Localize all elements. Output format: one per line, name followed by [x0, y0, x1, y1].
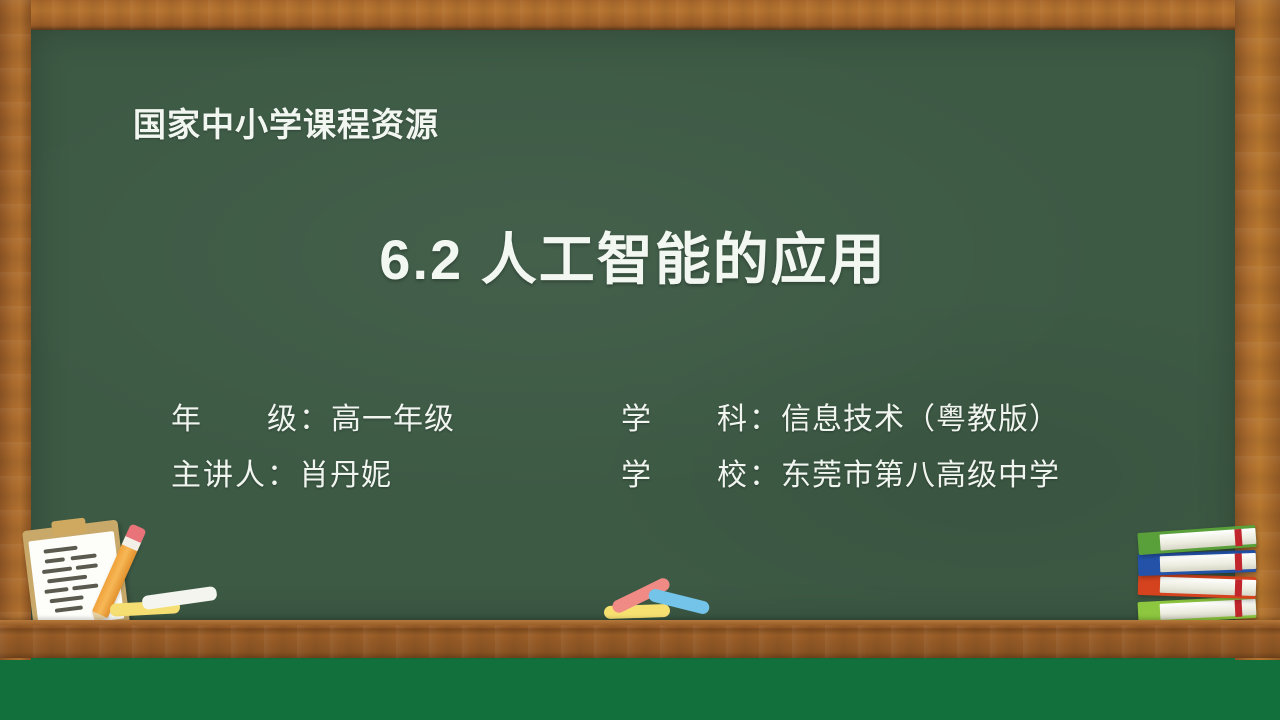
meta-teacher-label: 主讲人： — [171, 450, 299, 494]
chalk-trio-decoration — [598, 585, 718, 625]
meta-grade-label: 年 级： — [171, 394, 331, 438]
clipboard-decoration — [10, 505, 210, 635]
chalkboard: 国家中小学课程资源 6.2 人工智能的应用 年 级：高一年级 学 科：信息技术（… — [31, 30, 1235, 622]
floor-background — [0, 655, 1280, 720]
meta-grade: 年 级：高一年级 — [171, 394, 621, 438]
page-title: 6.2 人工智能的应用 — [31, 215, 1235, 296]
clipboard-clamp — [51, 517, 87, 536]
meta-school-value: 东莞市第八高级中学 — [781, 450, 1060, 494]
lesson-meta: 年 级：高一年级 学 科：信息技术（粤教版） 主讲人：肖丹妮 学 校：东莞市第八… — [171, 388, 1171, 500]
meta-subject-label: 学 科： — [621, 394, 781, 438]
slide-stage: 国家中小学课程资源 6.2 人工智能的应用 年 级：高一年级 学 科：信息技术（… — [0, 0, 1280, 720]
meta-subject-value: 信息技术（粤教版） — [781, 394, 1060, 438]
meta-school: 学 校：东莞市第八高级中学 — [621, 450, 1171, 494]
book-red — [1138, 573, 1257, 599]
meta-grade-value: 高一年级 — [331, 394, 455, 438]
frame-top-beam — [0, 0, 1280, 30]
chalk-ledge — [0, 620, 1280, 658]
meta-subject: 学 科：信息技术（粤教版） — [621, 394, 1171, 438]
course-brand-label: 国家中小学课程资源 — [133, 98, 439, 146]
meta-teacher-value: 肖丹妮 — [299, 450, 392, 494]
meta-teacher: 主讲人：肖丹妮 — [171, 450, 621, 494]
meta-school-label: 学 校： — [621, 450, 781, 494]
